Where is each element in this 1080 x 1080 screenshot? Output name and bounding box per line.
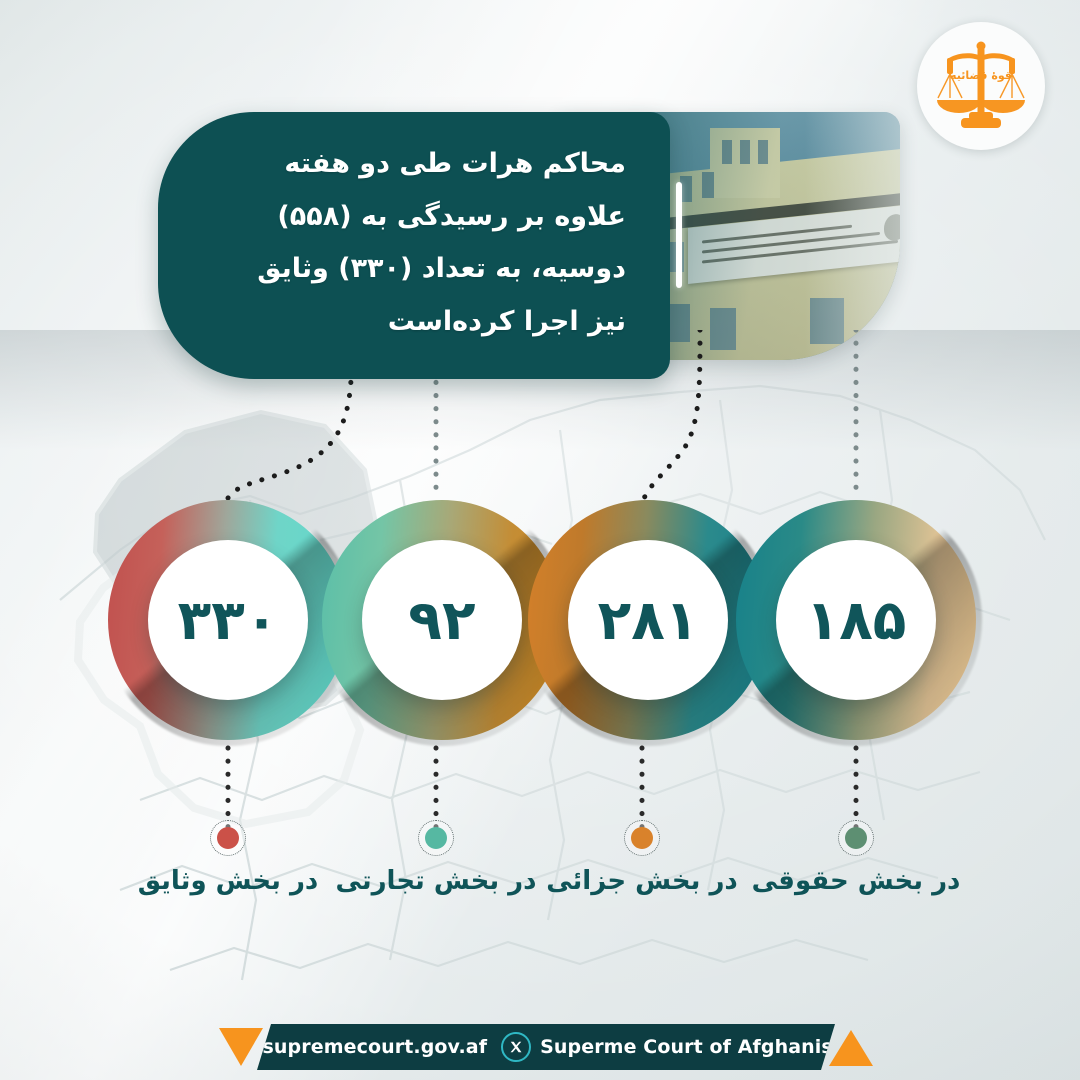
stat-value-circle-2: ۹۲ [362,540,522,700]
footer-website-text: supremecourt.gov.af [263,1036,488,1058]
footer-website[interactable]: supremecourt.gov.af [224,1032,488,1062]
footer-social-text: Superme Court of Afghanistan [540,1036,868,1058]
stat-value-2: ۹۲ [408,588,475,652]
footer-social[interactable]: Superme Court of Afghanistan [501,1032,868,1062]
headline-text: محاکم هرات طی دو هفته علاوه بر رسیدگی به… [228,138,626,349]
infographic-canvas: محاکم هرات طی دو هفته علاوه بر رسیدگی به… [0,0,1080,1080]
stat-value-1: ۳۳۰ [178,588,279,652]
stat-value-circle-3: ۲۸۱ [568,540,728,700]
legend-dot-3 [624,820,660,856]
stat-value-3: ۲۸۱ [598,588,699,652]
stat-node-4[interactable]: ۱۸۵ [736,500,976,740]
headline-banner: محاکم هرات طی دو هفته علاوه بر رسیدگی به… [158,112,670,379]
legend-label-4: در بخش حقوقی [716,866,996,896]
logo-arabic-text: قوۀ قضائیه [950,69,1012,82]
stat-value-circle-1: ۳۳۰ [148,540,308,700]
stat-value-4: ۱۸۵ [806,588,907,652]
x-twitter-icon [501,1032,531,1062]
stat-circles-row: ۳۳۰ ۹۲ ۲۸۱ ۱۸۵ [0,500,1080,750]
headline-accent-bar [676,182,682,288]
left-triangle-accent [219,1028,263,1066]
legend-dot-2 [418,820,454,856]
stat-node-1[interactable]: ۳۳۰ [108,500,348,740]
footer-bar: supremecourt.gov.af Superme Court of Afg… [215,1024,875,1070]
scales-of-justice-icon: قوۀ قضائیه [931,36,1031,136]
legend-row: در بخش وثایق در بخش تجارتی در بخش جزائی … [0,820,1080,940]
legend-dot-1 [210,820,246,856]
legend-dot-4 [838,820,874,856]
supreme-court-logo: قوۀ قضائیه [917,22,1045,150]
stat-value-circle-4: ۱۸۵ [776,540,936,700]
right-triangle-accent [829,1030,873,1066]
legend-item-4[interactable]: در بخش حقوقی [716,820,996,896]
